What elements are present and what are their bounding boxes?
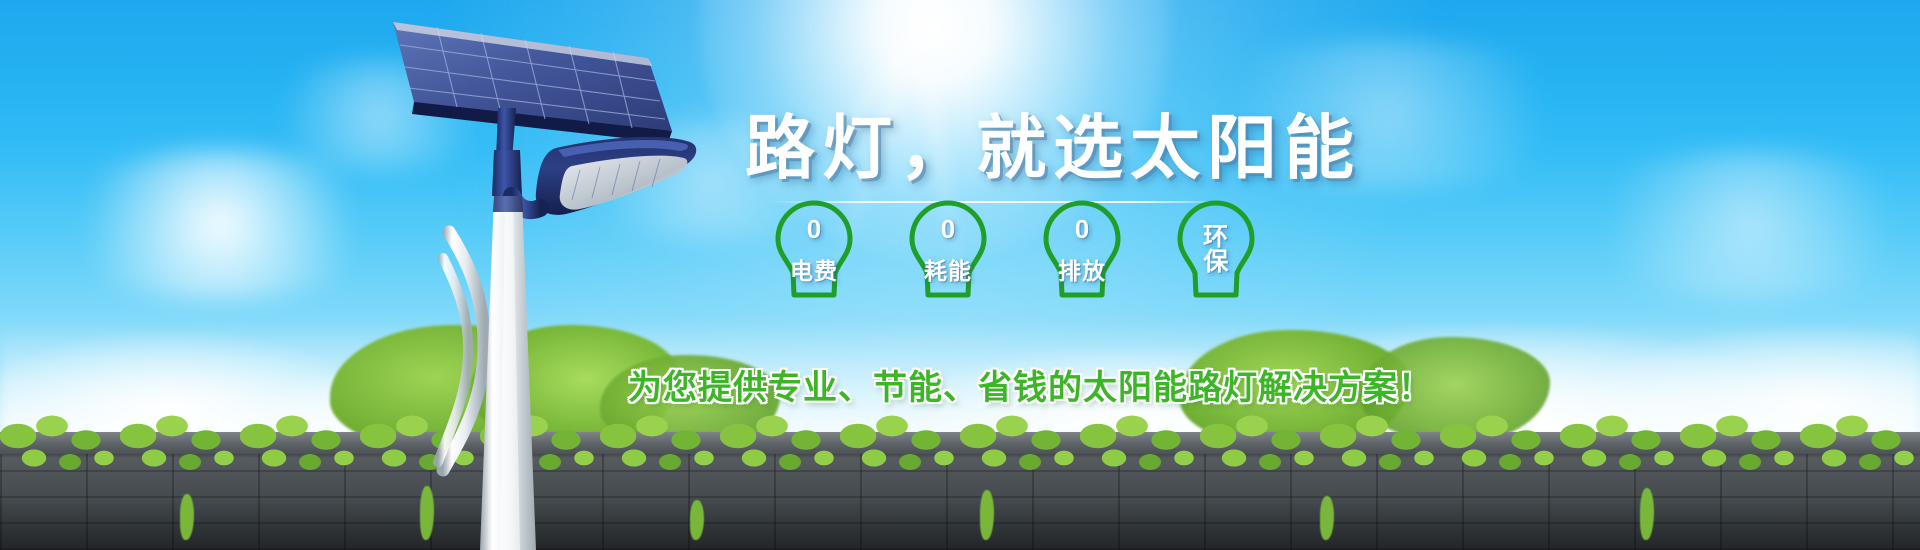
badge-text: 0 耗能 (924, 200, 972, 300)
badge-number: 0 (1058, 216, 1106, 243)
page-subtitle: 为您提供专业、节能、省钱的太阳能路灯解决方案！ (628, 360, 1433, 409)
wall-vines (0, 414, 1920, 488)
badge-text: 环 保 (1203, 225, 1229, 276)
cloud (250, 60, 510, 170)
wall-shadow (0, 500, 1920, 550)
feature-badge-power-cost: 0 电费 (770, 197, 858, 303)
badge-label-line1: 环 (1203, 225, 1229, 251)
badge-text: 0 排放 (1058, 200, 1106, 300)
badge-label: 耗能 (924, 260, 972, 283)
feature-badge-group: 0 电费 0 耗能 0 排放 (770, 197, 1260, 303)
feature-badge-emissions: 0 排放 (1038, 197, 1126, 303)
badge-number: 0 (790, 216, 838, 243)
badge-text: 0 电费 (790, 200, 838, 300)
feature-badge-energy-use: 0 耗能 (904, 197, 992, 303)
solar-street-light-banner: 路灯，就选太阳能 0 电费 0 耗能 (0, 0, 1920, 550)
badge-label: 排放 (1058, 260, 1106, 283)
badge-label: 电费 (790, 260, 838, 283)
feature-badge-eco-friendly: 环 保 (1172, 197, 1260, 303)
badge-label-line2: 保 (1203, 250, 1229, 276)
badge-number: 0 (924, 216, 972, 243)
page-title: 路灯，就选太阳能 (745, 92, 1361, 193)
